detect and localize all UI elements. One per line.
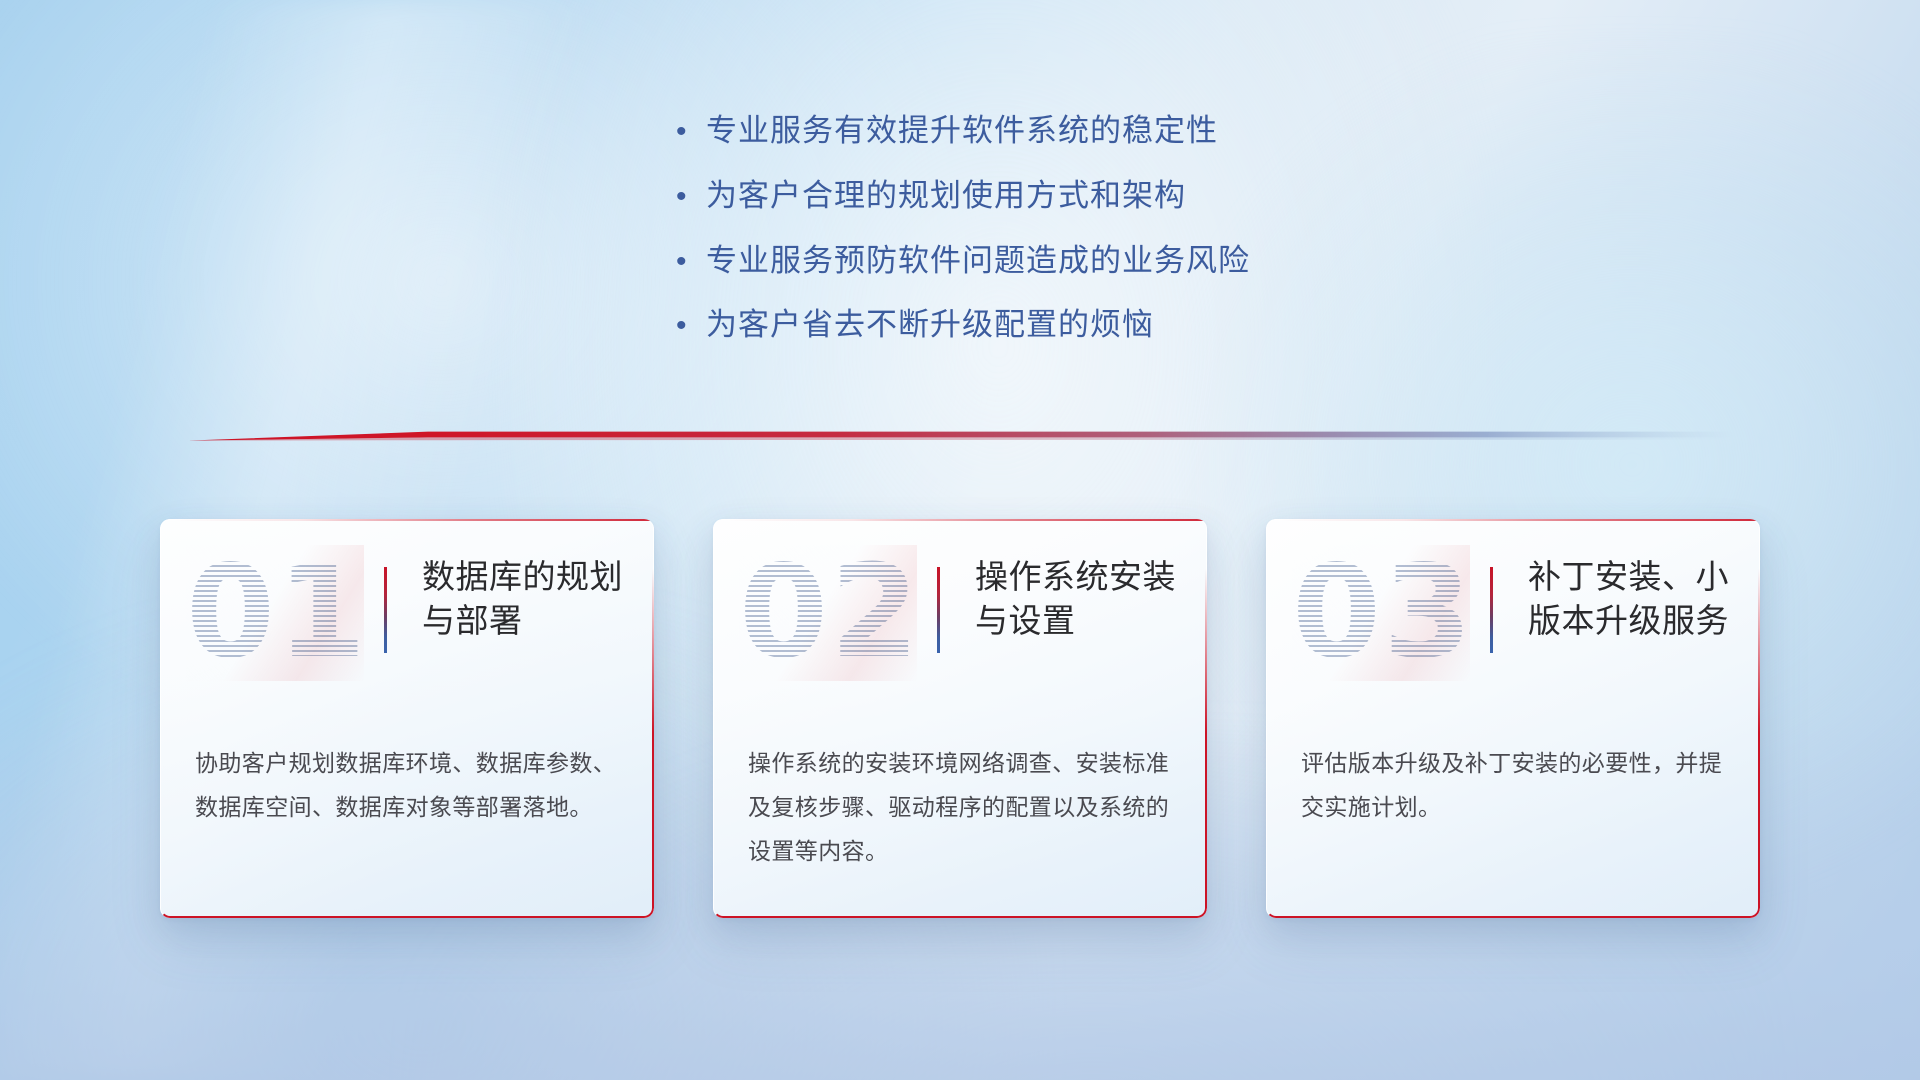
card-vertical-rule [384, 567, 387, 653]
card-header: 03 补丁安装、小版本升级服务 [1266, 519, 1760, 725]
section-divider-shape [188, 428, 1734, 444]
bullet-text: 为客户合理的规划使用方式和架构 [706, 177, 1186, 215]
benefits-bullet-list: • 专业服务有效提升软件系统的稳定性 • 为客户合理的规划使用方式和架构 • 专… [672, 112, 1492, 371]
list-item: • 专业服务预防软件问题造成的业务风险 [672, 242, 1492, 280]
list-item: • 为客户省去不断升级配置的烦恼 [672, 306, 1492, 344]
list-item: • 专业服务有效提升软件系统的稳定性 [672, 112, 1492, 150]
card-body-text: 评估版本升级及补丁安装的必要性，并提交实施计划。 [1301, 741, 1730, 829]
bullet-text: 为客户省去不断升级配置的烦恼 [706, 306, 1154, 344]
card-number-watermark: 02 [739, 545, 917, 681]
bullet-dot-icon: • [672, 311, 706, 341]
slide-stage: • 专业服务有效提升软件系统的稳定性 • 为客户合理的规划使用方式和架构 • 专… [0, 0, 1920, 1080]
card-number-watermark: 01 [186, 545, 364, 681]
bullet-dot-icon: • [672, 247, 706, 277]
card-body-text: 协助客户规划数据库环境、数据库参数、数据库空间、数据库对象等部署落地。 [195, 741, 624, 829]
card-number-watermark: 03 [1292, 545, 1470, 681]
service-cards-row: 01 数据库的规划与部署 协助客户规划数据库环境、数据库参数、数据库空间、数据库… [0, 519, 1920, 918]
card-title: 操作系统安装与设置 [975, 555, 1187, 643]
card-header: 02 操作系统安装与设置 [713, 519, 1207, 725]
bullet-dot-icon: • [672, 117, 706, 147]
card-title: 数据库的规划与部署 [422, 555, 634, 643]
service-card-02[interactable]: 02 操作系统安装与设置 操作系统的安装环境网络调查、安装标准及复核步骤、驱动程… [713, 519, 1207, 918]
bullet-dot-icon: • [672, 182, 706, 212]
bullet-text: 专业服务有效提升软件系统的稳定性 [706, 112, 1218, 150]
bullet-text: 专业服务预防软件问题造成的业务风险 [706, 242, 1250, 280]
card-title: 补丁安装、小版本升级服务 [1528, 555, 1740, 643]
card-vertical-rule [1490, 567, 1493, 653]
card-body-text: 操作系统的安装环境网络调查、安装标准及复核步骤、驱动程序的配置以及系统的设置等内… [748, 741, 1177, 873]
section-divider [188, 428, 1734, 444]
card-vertical-rule [937, 567, 940, 653]
list-item: • 为客户合理的规划使用方式和架构 [672, 177, 1492, 215]
card-header: 01 数据库的规划与部署 [160, 519, 654, 725]
service-card-01[interactable]: 01 数据库的规划与部署 协助客户规划数据库环境、数据库参数、数据库空间、数据库… [160, 519, 654, 918]
service-card-03[interactable]: 03 补丁安装、小版本升级服务 评估版本升级及补丁安装的必要性，并提交实施计划。 [1266, 519, 1760, 918]
